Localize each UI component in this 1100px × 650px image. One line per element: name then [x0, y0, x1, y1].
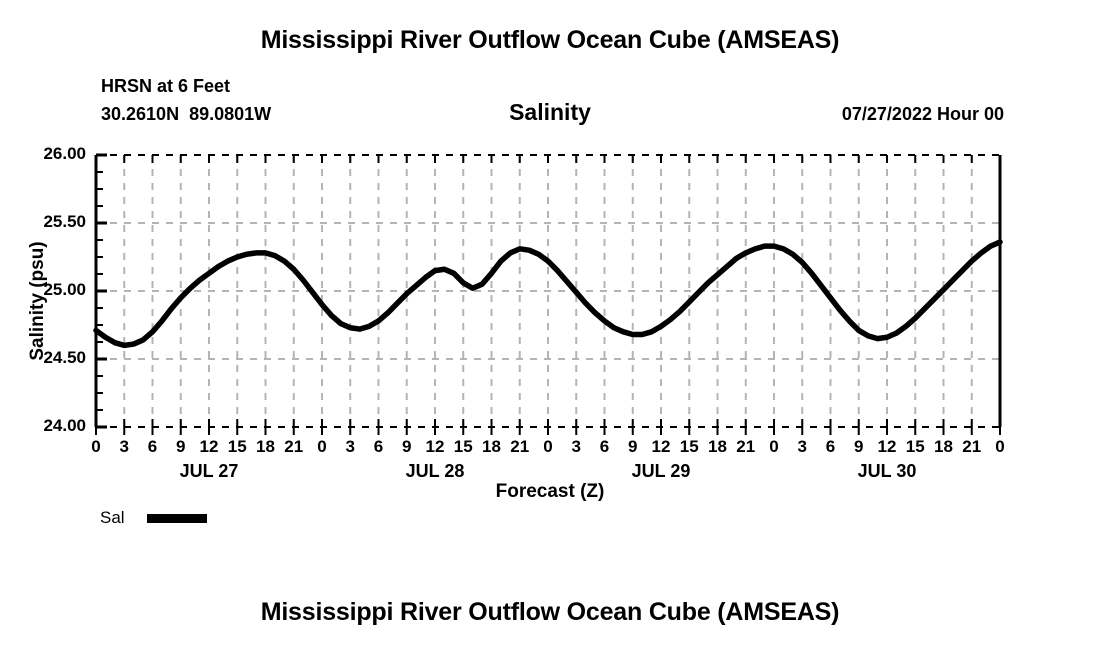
- x-tick-label: 3: [109, 437, 139, 457]
- x-tick-label: 9: [392, 437, 422, 457]
- x-tick-label: 18: [477, 437, 507, 457]
- x-tick-label: 15: [222, 437, 252, 457]
- x-tick-label: 12: [646, 437, 676, 457]
- y-tick-label: 24.50: [8, 348, 86, 368]
- y-tick-label: 25.50: [8, 212, 86, 232]
- x-tick-label: 3: [787, 437, 817, 457]
- x-axis-day-label: JUL 29: [591, 461, 731, 482]
- x-tick-label: 15: [900, 437, 930, 457]
- y-tick-label: 25.00: [8, 280, 86, 300]
- x-tick-label: 15: [448, 437, 478, 457]
- x-tick-label: 3: [561, 437, 591, 457]
- x-axis-day-label: JUL 30: [817, 461, 957, 482]
- x-tick-label: 21: [279, 437, 309, 457]
- x-tick-label: 9: [166, 437, 196, 457]
- x-axis-day-label: JUL 28: [365, 461, 505, 482]
- x-tick-label: 0: [533, 437, 563, 457]
- plot-area: Salinity (psu) Forecast (Z) 26.0025.5025…: [0, 0, 1100, 560]
- x-axis-title: Forecast (Z): [0, 481, 1100, 503]
- legend-swatch-sal: [147, 514, 207, 523]
- x-tick-label: 18: [251, 437, 281, 457]
- x-tick-label: 6: [590, 437, 620, 457]
- x-tick-label: 9: [618, 437, 648, 457]
- x-tick-label: 6: [138, 437, 168, 457]
- x-tick-label: 21: [505, 437, 535, 457]
- x-tick-label: 18: [703, 437, 733, 457]
- legend-label-sal: Sal: [100, 508, 125, 528]
- x-tick-label: 6: [816, 437, 846, 457]
- x-axis-day-label: JUL 27: [139, 461, 279, 482]
- x-tick-label: 3: [335, 437, 365, 457]
- x-tick-label: 0: [307, 437, 337, 457]
- x-tick-label: 0: [759, 437, 789, 457]
- page-title-bottom: Mississippi River Outflow Ocean Cube (AM…: [0, 598, 1100, 627]
- x-tick-label: 12: [872, 437, 902, 457]
- y-tick-label: 24.00: [8, 416, 86, 436]
- x-tick-label: 21: [957, 437, 987, 457]
- y-tick-label: 26.00: [8, 144, 86, 164]
- x-tick-label: 12: [420, 437, 450, 457]
- x-tick-label: 9: [844, 437, 874, 457]
- x-tick-label: 18: [929, 437, 959, 457]
- chart-legend: Sal: [100, 508, 207, 528]
- chart-page: Mississippi River Outflow Ocean Cube (AM…: [0, 0, 1100, 650]
- x-tick-label: 0: [985, 437, 1015, 457]
- x-tick-label: 15: [674, 437, 704, 457]
- x-tick-label: 12: [194, 437, 224, 457]
- x-tick-label: 0: [81, 437, 111, 457]
- x-tick-label: 21: [731, 437, 761, 457]
- x-tick-label: 6: [364, 437, 394, 457]
